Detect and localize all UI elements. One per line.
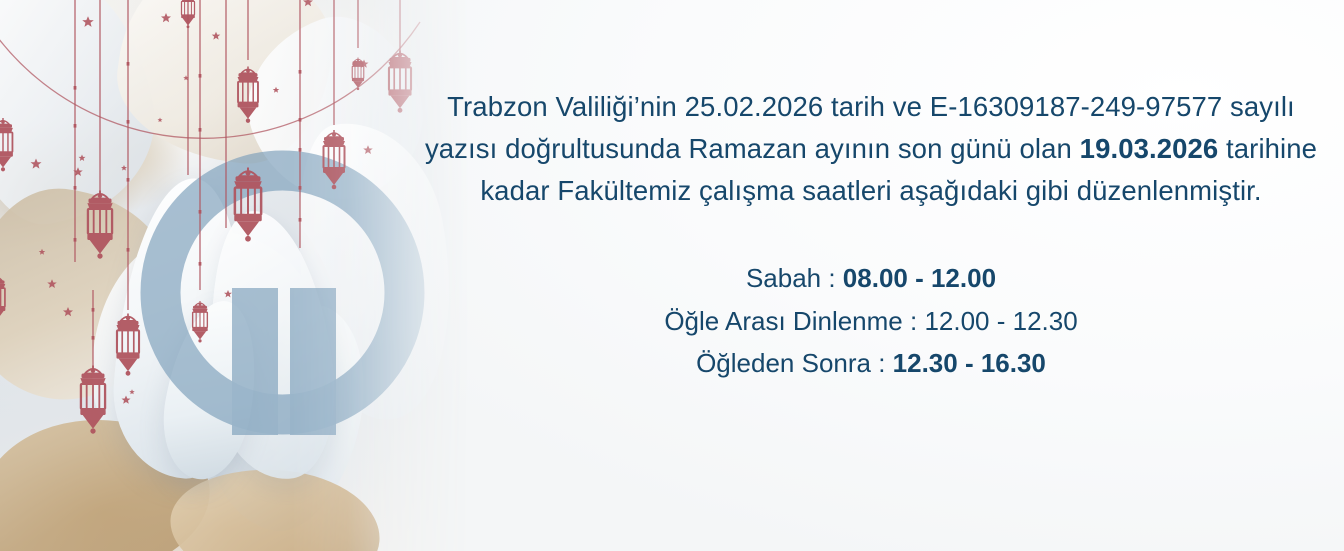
- notice-paragraph: Trabzon Valiliği’nin 25.02.2026 tarih ve…: [419, 86, 1324, 211]
- working-hours-row-lunch-break: Öğle Arası Dinlenme : 12.00 - 12.30: [664, 300, 1077, 342]
- faculty-watermark-logo: [140, 150, 425, 435]
- working-hours-value: 08.00 - 12.00: [843, 263, 996, 293]
- working-hours-value: 12.30 - 16.30: [893, 348, 1046, 378]
- working-hours-row-morning: Sabah : 08.00 - 12.00: [664, 257, 1077, 299]
- working-hours-value: 12.00 - 12.30: [924, 306, 1077, 336]
- working-hours-label: Öğle Arası Dinlenme :: [664, 306, 924, 336]
- announcement-banner: Trabzon Valiliği’nin 25.02.2026 tarih ve…: [0, 0, 1344, 551]
- notice-highlight-date: 19.03.2026: [1080, 133, 1219, 164]
- working-hours-row-afternoon: Öğleden Sonra : 12.30 - 16.30: [664, 342, 1077, 384]
- working-hours-list: Sabah : 08.00 - 12.00 Öğle Arası Dinlenm…: [664, 257, 1077, 383]
- working-hours-label: Öğleden Sonra :: [696, 348, 893, 378]
- working-hours-label: Sabah :: [746, 263, 843, 293]
- announcement-content: Trabzon Valiliği’nin 25.02.2026 tarih ve…: [398, 0, 1344, 551]
